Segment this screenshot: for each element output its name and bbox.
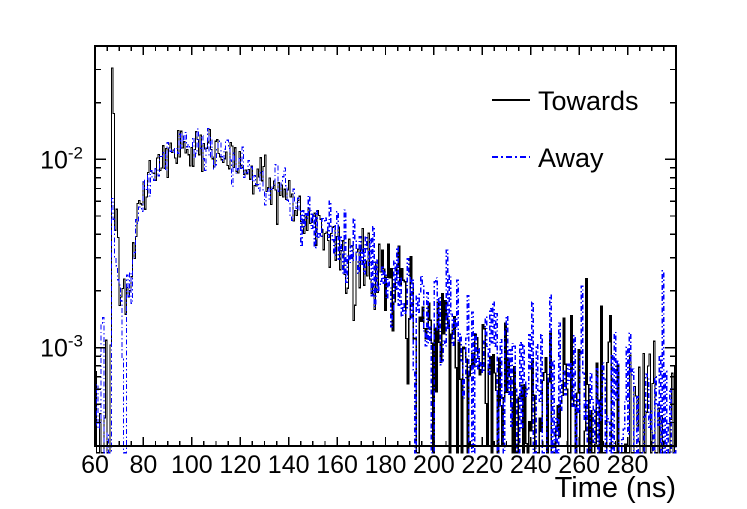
- x-tick-label: 100: [171, 451, 213, 479]
- x-tick-label: 160: [316, 451, 358, 479]
- legend-label-away: Away: [538, 143, 604, 173]
- x-tick-label: 200: [413, 451, 455, 479]
- x-tick-label: 140: [268, 451, 310, 479]
- x-tick-label: 240: [510, 451, 552, 479]
- x-tick-label: 80: [130, 451, 158, 479]
- plot-canvas: 6080100120140160180200220240260280 10-21…: [0, 0, 747, 509]
- chart-figure: 6080100120140160180200220240260280 10-21…: [0, 0, 747, 509]
- legend-label-towards: Towards: [538, 86, 639, 116]
- x-tick-label: 60: [81, 451, 109, 479]
- x-tick-label: 220: [461, 451, 503, 479]
- x-axis-title: Time (ns): [555, 472, 676, 504]
- x-tick-label: 120: [219, 451, 261, 479]
- x-tick-label: 180: [365, 451, 407, 479]
